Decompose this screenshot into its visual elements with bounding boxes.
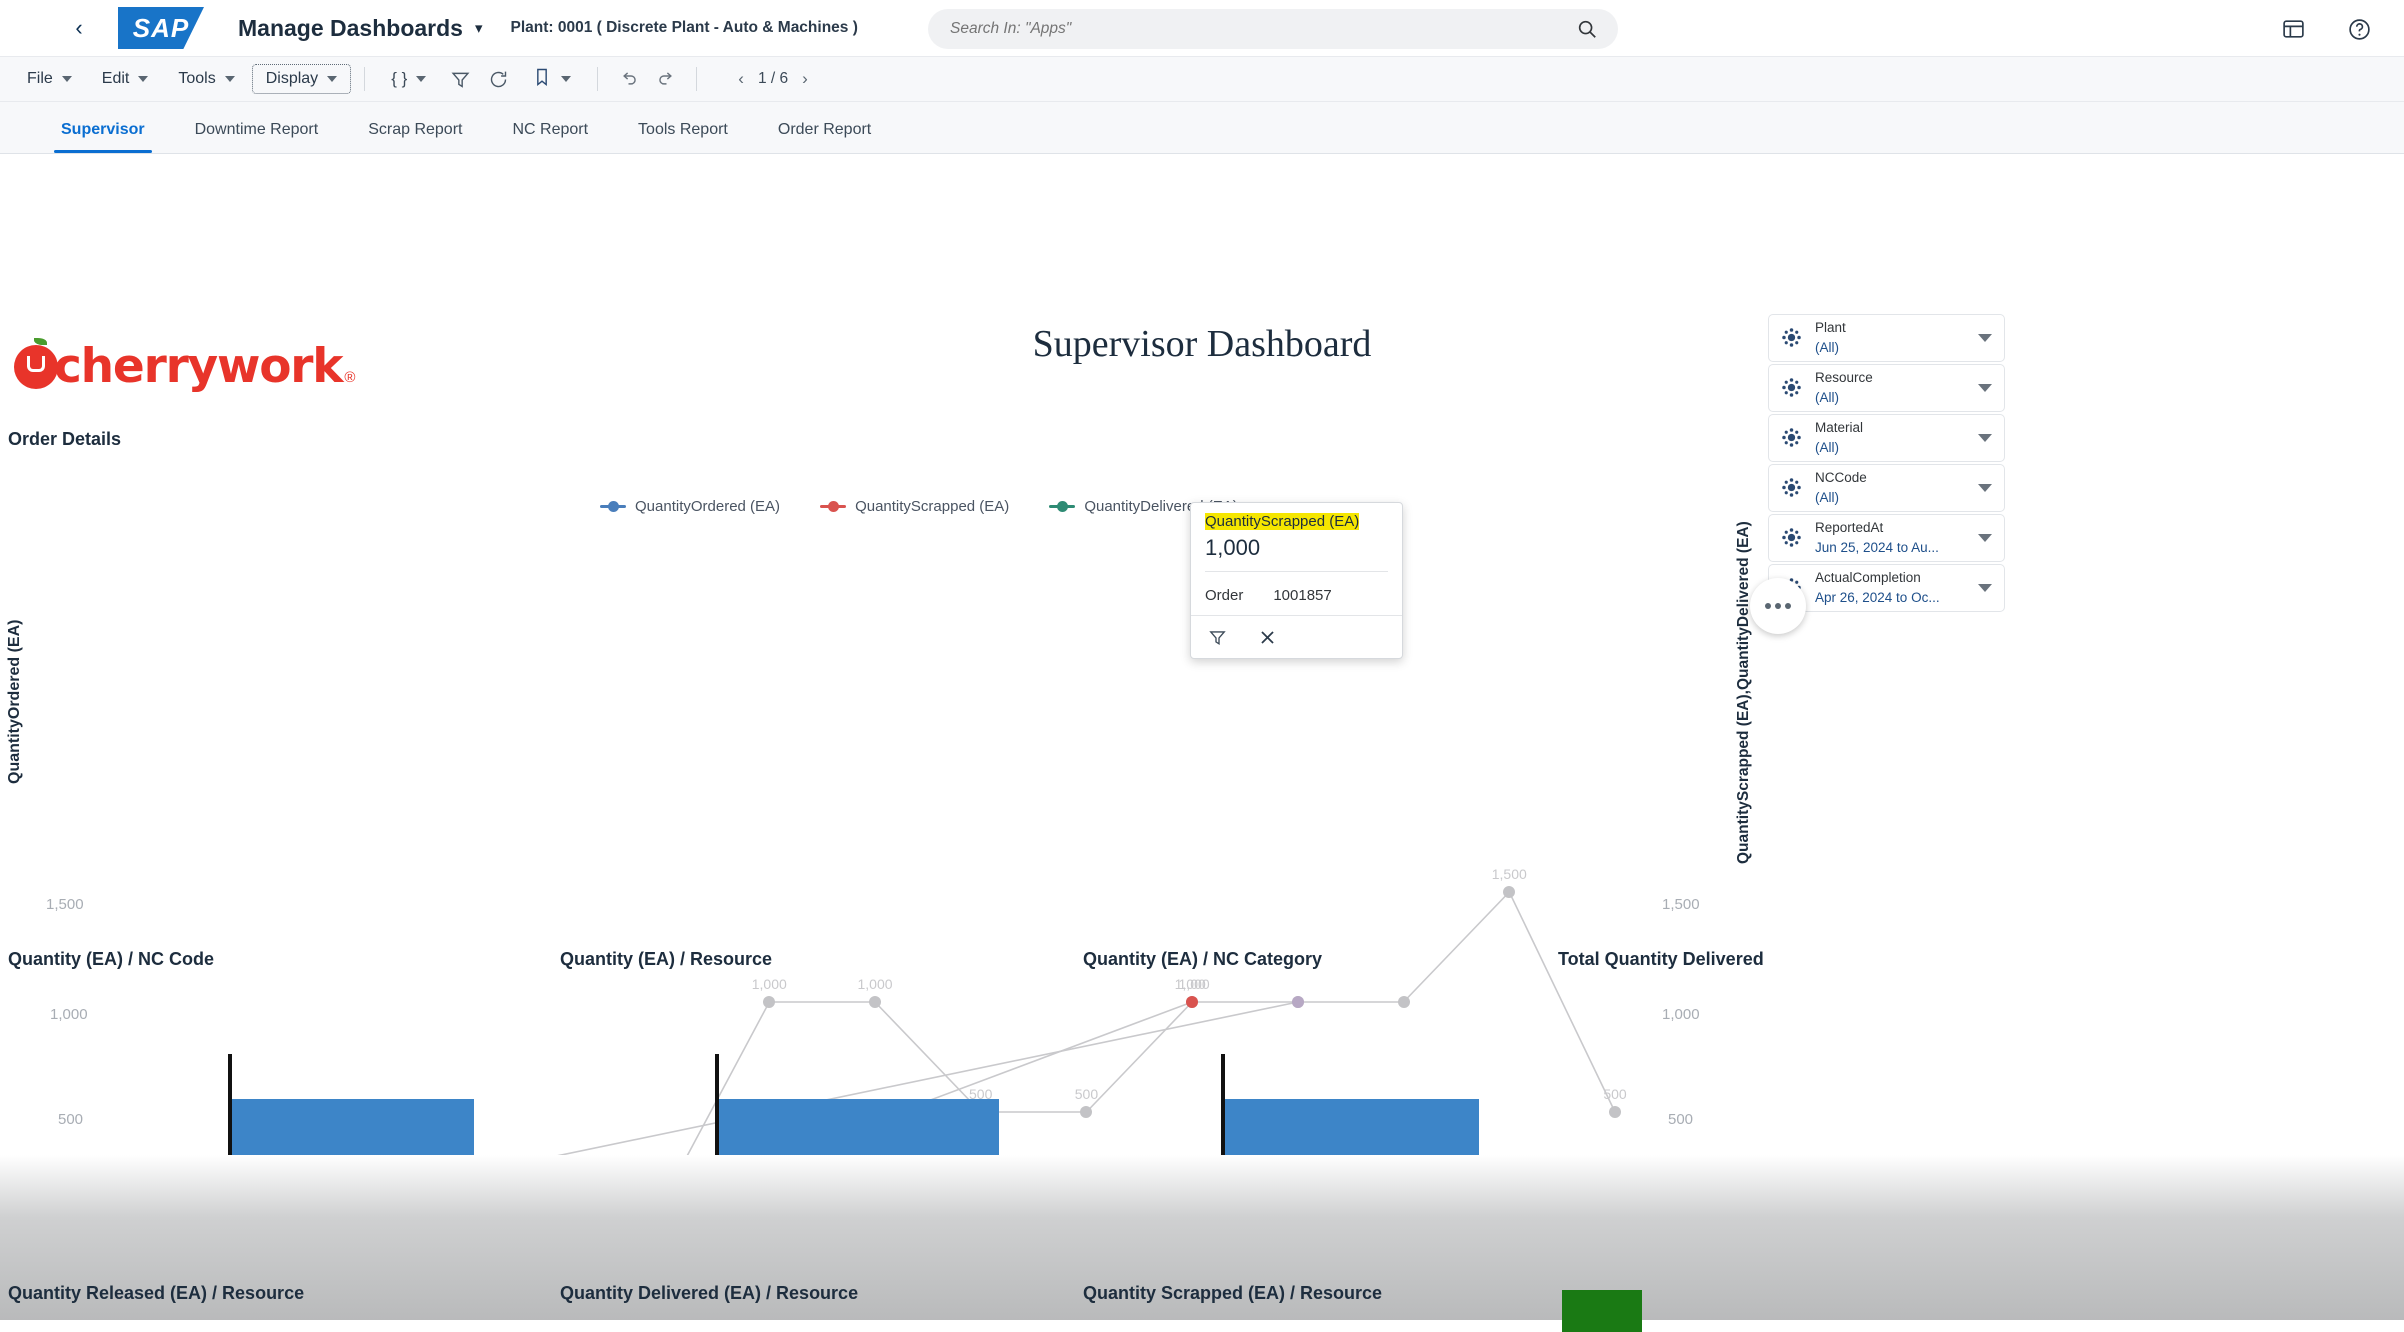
menu-tools[interactable]: Tools (165, 65, 247, 93)
y-tick-left: 500 (58, 1111, 83, 1128)
undo-icon[interactable] (611, 64, 645, 94)
chevron-down-icon[interactable] (1978, 534, 1992, 542)
filter-value: Apr 26, 2024 to Oc... (1815, 590, 1940, 605)
section-title-qty-scrapped-resource: Quantity Scrapped (EA) / Resource (1083, 1283, 1382, 1304)
data-point[interactable] (1292, 996, 1304, 1008)
data-point-label: 1,500 (1492, 866, 1527, 882)
filter-card-nccode[interactable]: NCCode (All) (1768, 464, 2005, 512)
y-tick-left: 1,500 (46, 896, 84, 913)
dimension-icon (1781, 327, 1803, 349)
section-title-order-details: Order Details (8, 429, 121, 450)
menu-file[interactable]: File (14, 65, 85, 93)
search-input[interactable] (948, 19, 1576, 39)
legend-marker (820, 505, 846, 508)
help-icon[interactable] (2340, 10, 2378, 48)
legend-label: QuantityScrapped (EA) (855, 498, 1009, 515)
filter-value: Jun 25, 2024 to Au... (1815, 540, 1939, 555)
bookmark-menu[interactable] (519, 62, 584, 97)
bookmark-icon (532, 67, 552, 92)
braces-icon: { } (391, 69, 407, 89)
data-point-label: 500 (1603, 1086, 1626, 1102)
menu-edit[interactable]: Edit (89, 65, 162, 93)
chevron-down-icon[interactable] (1978, 334, 1992, 342)
dimension-icon (1781, 377, 1803, 399)
filter-card-resource[interactable]: Resource (All) (1768, 364, 2005, 412)
prev-page-button[interactable]: ‹ (738, 69, 744, 89)
back-chevron-icon[interactable]: ‹ (62, 11, 96, 45)
menu-display-label: Display (266, 70, 318, 88)
legend-marker (1049, 505, 1075, 508)
filter-name: Resource (1815, 370, 1873, 385)
page-title: Manage Dashboards (238, 15, 463, 42)
menu-file-label: File (27, 70, 53, 88)
filter-value: (All) (1815, 390, 1839, 405)
filter-icon[interactable] (1205, 625, 1229, 649)
report-tabs: Supervisor Downtime Report Scrap Report … (0, 102, 2404, 154)
page-indicator: 1 / 6 (758, 70, 788, 88)
chevron-down-icon[interactable] (1978, 384, 1992, 392)
toolbar-divider (597, 67, 598, 91)
filter-value: (All) (1815, 490, 1839, 505)
filter-name: ActualCompletion (1815, 570, 1921, 585)
data-point-label: 1,00 (1179, 976, 1206, 992)
redo-icon[interactable] (649, 64, 683, 94)
dimension-icon (1781, 477, 1803, 499)
toolbar-divider (696, 67, 697, 91)
chevron-down-icon (416, 76, 426, 82)
filter-value: (All) (1815, 340, 1839, 355)
legend-marker (600, 505, 626, 508)
filter-value: (All) (1815, 440, 1839, 455)
data-point[interactable] (1609, 1106, 1621, 1118)
registered-mark: ® (344, 369, 355, 386)
legend-item-ordered[interactable]: QuantityOrdered (EA) (600, 498, 780, 515)
dimension-icon (1781, 527, 1803, 549)
refresh-icon[interactable] (481, 64, 515, 94)
tab-downtime-report[interactable]: Downtime Report (170, 107, 344, 153)
toolbar-divider (364, 67, 365, 91)
data-point[interactable] (1398, 996, 1410, 1008)
sap-logo[interactable]: SAP (118, 7, 204, 49)
dimension-icon (1781, 427, 1803, 449)
chevron-down-icon[interactable] (1978, 584, 1992, 592)
tooltip-title: QuantityScrapped (EA) (1205, 513, 1359, 530)
filter-text: Plant (All) (1815, 318, 1966, 357)
tooltip-detail-label: Order (1205, 587, 1243, 604)
tooltip-body: QuantityScrapped (EA) 1,000 (1191, 503, 1402, 578)
y-tick-left: 1,000 (50, 1006, 88, 1023)
tab-supervisor[interactable]: Supervisor (36, 107, 170, 153)
chart-legend: QuantityOrdered (EA) QuantityScrapped (E… (600, 498, 1238, 515)
tab-order-report[interactable]: Order Report (753, 107, 896, 153)
y-tick-right: 1,000 (1662, 1006, 1700, 1023)
filter-card-reportedat[interactable]: ReportedAt Jun 25, 2024 to Au... (1768, 514, 2005, 562)
filter-name: ReportedAt (1815, 520, 1883, 535)
status-color-swatch (1562, 1290, 1642, 1332)
shell-header: ‹ SAP Manage Dashboards ▾ Plant: 0001 ( … (0, 0, 2404, 57)
filter-text: Resource (All) (1815, 368, 1966, 407)
dashboard-canvas: cherrywork ® Supervisor Dashboard Order … (0, 154, 2404, 1320)
filter-text: Material (All) (1815, 418, 1966, 457)
tooltip-divider (1205, 571, 1388, 572)
legend-label: QuantityOrdered (EA) (635, 498, 780, 515)
order-details-line-chart: QuantityOrdered (EA) QuantityScrapped (E… (0, 484, 1760, 914)
data-point[interactable] (1186, 996, 1198, 1008)
section-title-qty-nc-code: Quantity (EA) / NC Code (8, 949, 214, 970)
chevron-down-icon[interactable] (1978, 434, 1992, 442)
app-switcher-icon[interactable] (2274, 10, 2312, 48)
section-title-total-qty-delivered: Total Quantity Delivered (1558, 949, 1764, 970)
filter-icon[interactable] (443, 64, 477, 94)
tooltip-actions (1191, 615, 1402, 658)
chevron-down-icon (561, 76, 571, 82)
dashboard-title: Supervisor Dashboard (0, 322, 2404, 366)
filter-name: NCCode (1815, 470, 1867, 485)
header-actions (2274, 10, 2378, 48)
chevron-down-icon (62, 76, 72, 82)
braces-menu[interactable]: { } (378, 64, 439, 94)
toolbar: File Edit Tools Display { } (0, 57, 2404, 102)
menu-tools-label: Tools (178, 70, 215, 88)
tab-tools-report[interactable]: Tools Report (613, 107, 753, 153)
datapoint-tooltip[interactable]: QuantityScrapped (EA) 1,000 Order 100185… (1190, 502, 1403, 659)
menu-display[interactable]: Display (252, 64, 351, 94)
search-icon[interactable] (1576, 18, 1598, 40)
tooltip-detail-row: Order 1001857 (1191, 578, 1402, 615)
filter-name: Material (1815, 420, 1863, 435)
tooltip-detail-value: 1001857 (1273, 587, 1331, 604)
data-point[interactable] (1503, 886, 1515, 898)
y-axis-left-title: QuantityOrdered (EA) (6, 620, 24, 784)
filter-name: Plant (1815, 320, 1846, 335)
plant-context-label: Plant: 0001 ( Discrete Plant - Auto & Ma… (510, 19, 857, 37)
close-icon[interactable] (1255, 625, 1279, 649)
chevron-down-icon[interactable]: ▾ (475, 19, 483, 37)
chevron-down-icon (327, 76, 337, 82)
filter-text: NCCode (All) (1815, 468, 1966, 507)
y-tick-right: 1,500 (1662, 896, 1700, 913)
tab-nc-report[interactable]: NC Report (487, 107, 613, 153)
data-point[interactable] (763, 996, 775, 1008)
menu-edit-label: Edit (102, 70, 130, 88)
next-page-button[interactable]: › (802, 69, 808, 89)
section-title-qty-resource: Quantity (EA) / Resource (560, 949, 772, 970)
filter-panel: Plant (All) Resource (All) (1768, 314, 2005, 614)
tooltip-value: 1,000 (1205, 535, 1388, 561)
data-point[interactable] (1080, 1106, 1092, 1118)
tab-scrap-report[interactable]: Scrap Report (343, 107, 487, 153)
chevron-down-icon (225, 76, 235, 82)
chevron-down-icon[interactable] (1978, 484, 1992, 492)
section-title-qty-released-resource: Quantity Released (EA) / Resource (8, 1283, 304, 1304)
legend-item-scrapped[interactable]: QuantityScrapped (EA) (820, 498, 1009, 515)
data-point-label: 1,000 (857, 976, 892, 992)
chevron-down-icon (138, 76, 148, 82)
overflow-menu-cursor[interactable] (1750, 578, 1806, 634)
filter-text: ActualCompletion Apr 26, 2024 to Oc... (1815, 568, 1966, 607)
data-point-label: 500 (1075, 1086, 1098, 1102)
page-navigator: ‹ 1 / 6 › (738, 69, 808, 89)
filter-card-material[interactable]: Material (All) (1768, 414, 2005, 462)
filter-text: ReportedAt Jun 25, 2024 to Au... (1815, 518, 1966, 557)
filter-card-plant[interactable]: Plant (All) (1768, 314, 2005, 362)
data-point-label: 1,000 (752, 976, 787, 992)
y-tick-right: 500 (1668, 1111, 1693, 1128)
section-title-qty-delivered-resource: Quantity Delivered (EA) / Resource (560, 1283, 858, 1304)
section-title-qty-nc-category: Quantity (EA) / NC Category (1083, 949, 1322, 970)
data-point[interactable] (869, 996, 881, 1008)
search-box[interactable] (928, 9, 1618, 49)
y-axis-right-title: QuantityScrapped (EA),QuantityDelivered … (1735, 521, 1753, 864)
